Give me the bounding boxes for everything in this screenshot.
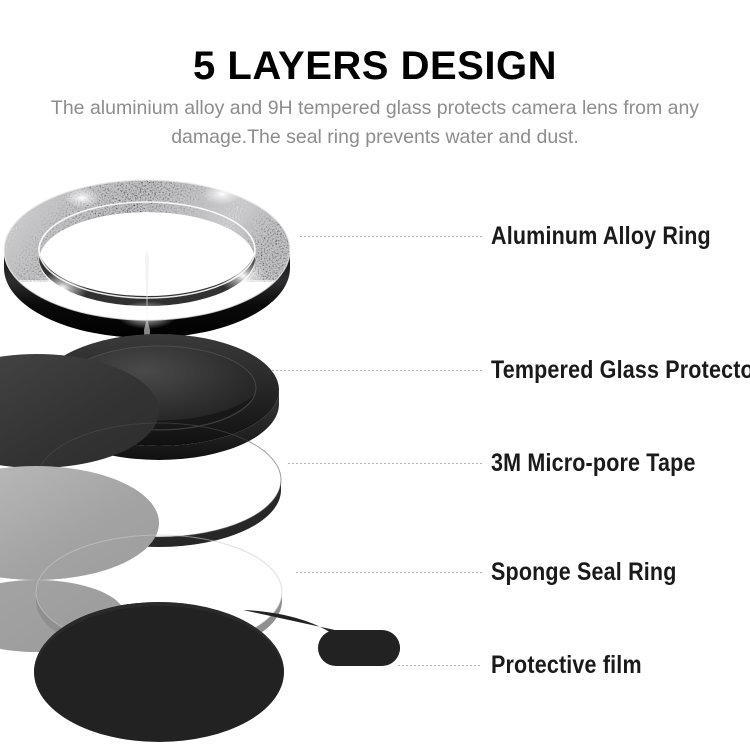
- film-tab-icon: [34, 602, 400, 742]
- layer-label-3m-micro-pore-tape: 3M Micro-pore Tape: [491, 449, 696, 478]
- layer-label-protective-film: Protective film: [491, 651, 642, 680]
- layer-label-aluminum-alloy-ring: Aluminum Alloy Ring: [491, 222, 711, 251]
- layer-label-tempered-glass-protector: Tempered Glass Protector: [491, 356, 750, 385]
- leader-line-protective-film: [398, 665, 482, 666]
- leader-line-3m-micro-pore-tape: [288, 463, 482, 464]
- infographic-page: 5 LAYERS DESIGN The aluminium alloy and …: [0, 0, 750, 750]
- leader-line-sponge-seal-ring: [296, 572, 482, 573]
- leader-line-tempered-glass-protector: [272, 370, 482, 371]
- leader-line-aluminum-alloy-ring: [300, 236, 482, 237]
- layer-label-sponge-seal-ring: Sponge Seal Ring: [491, 558, 677, 587]
